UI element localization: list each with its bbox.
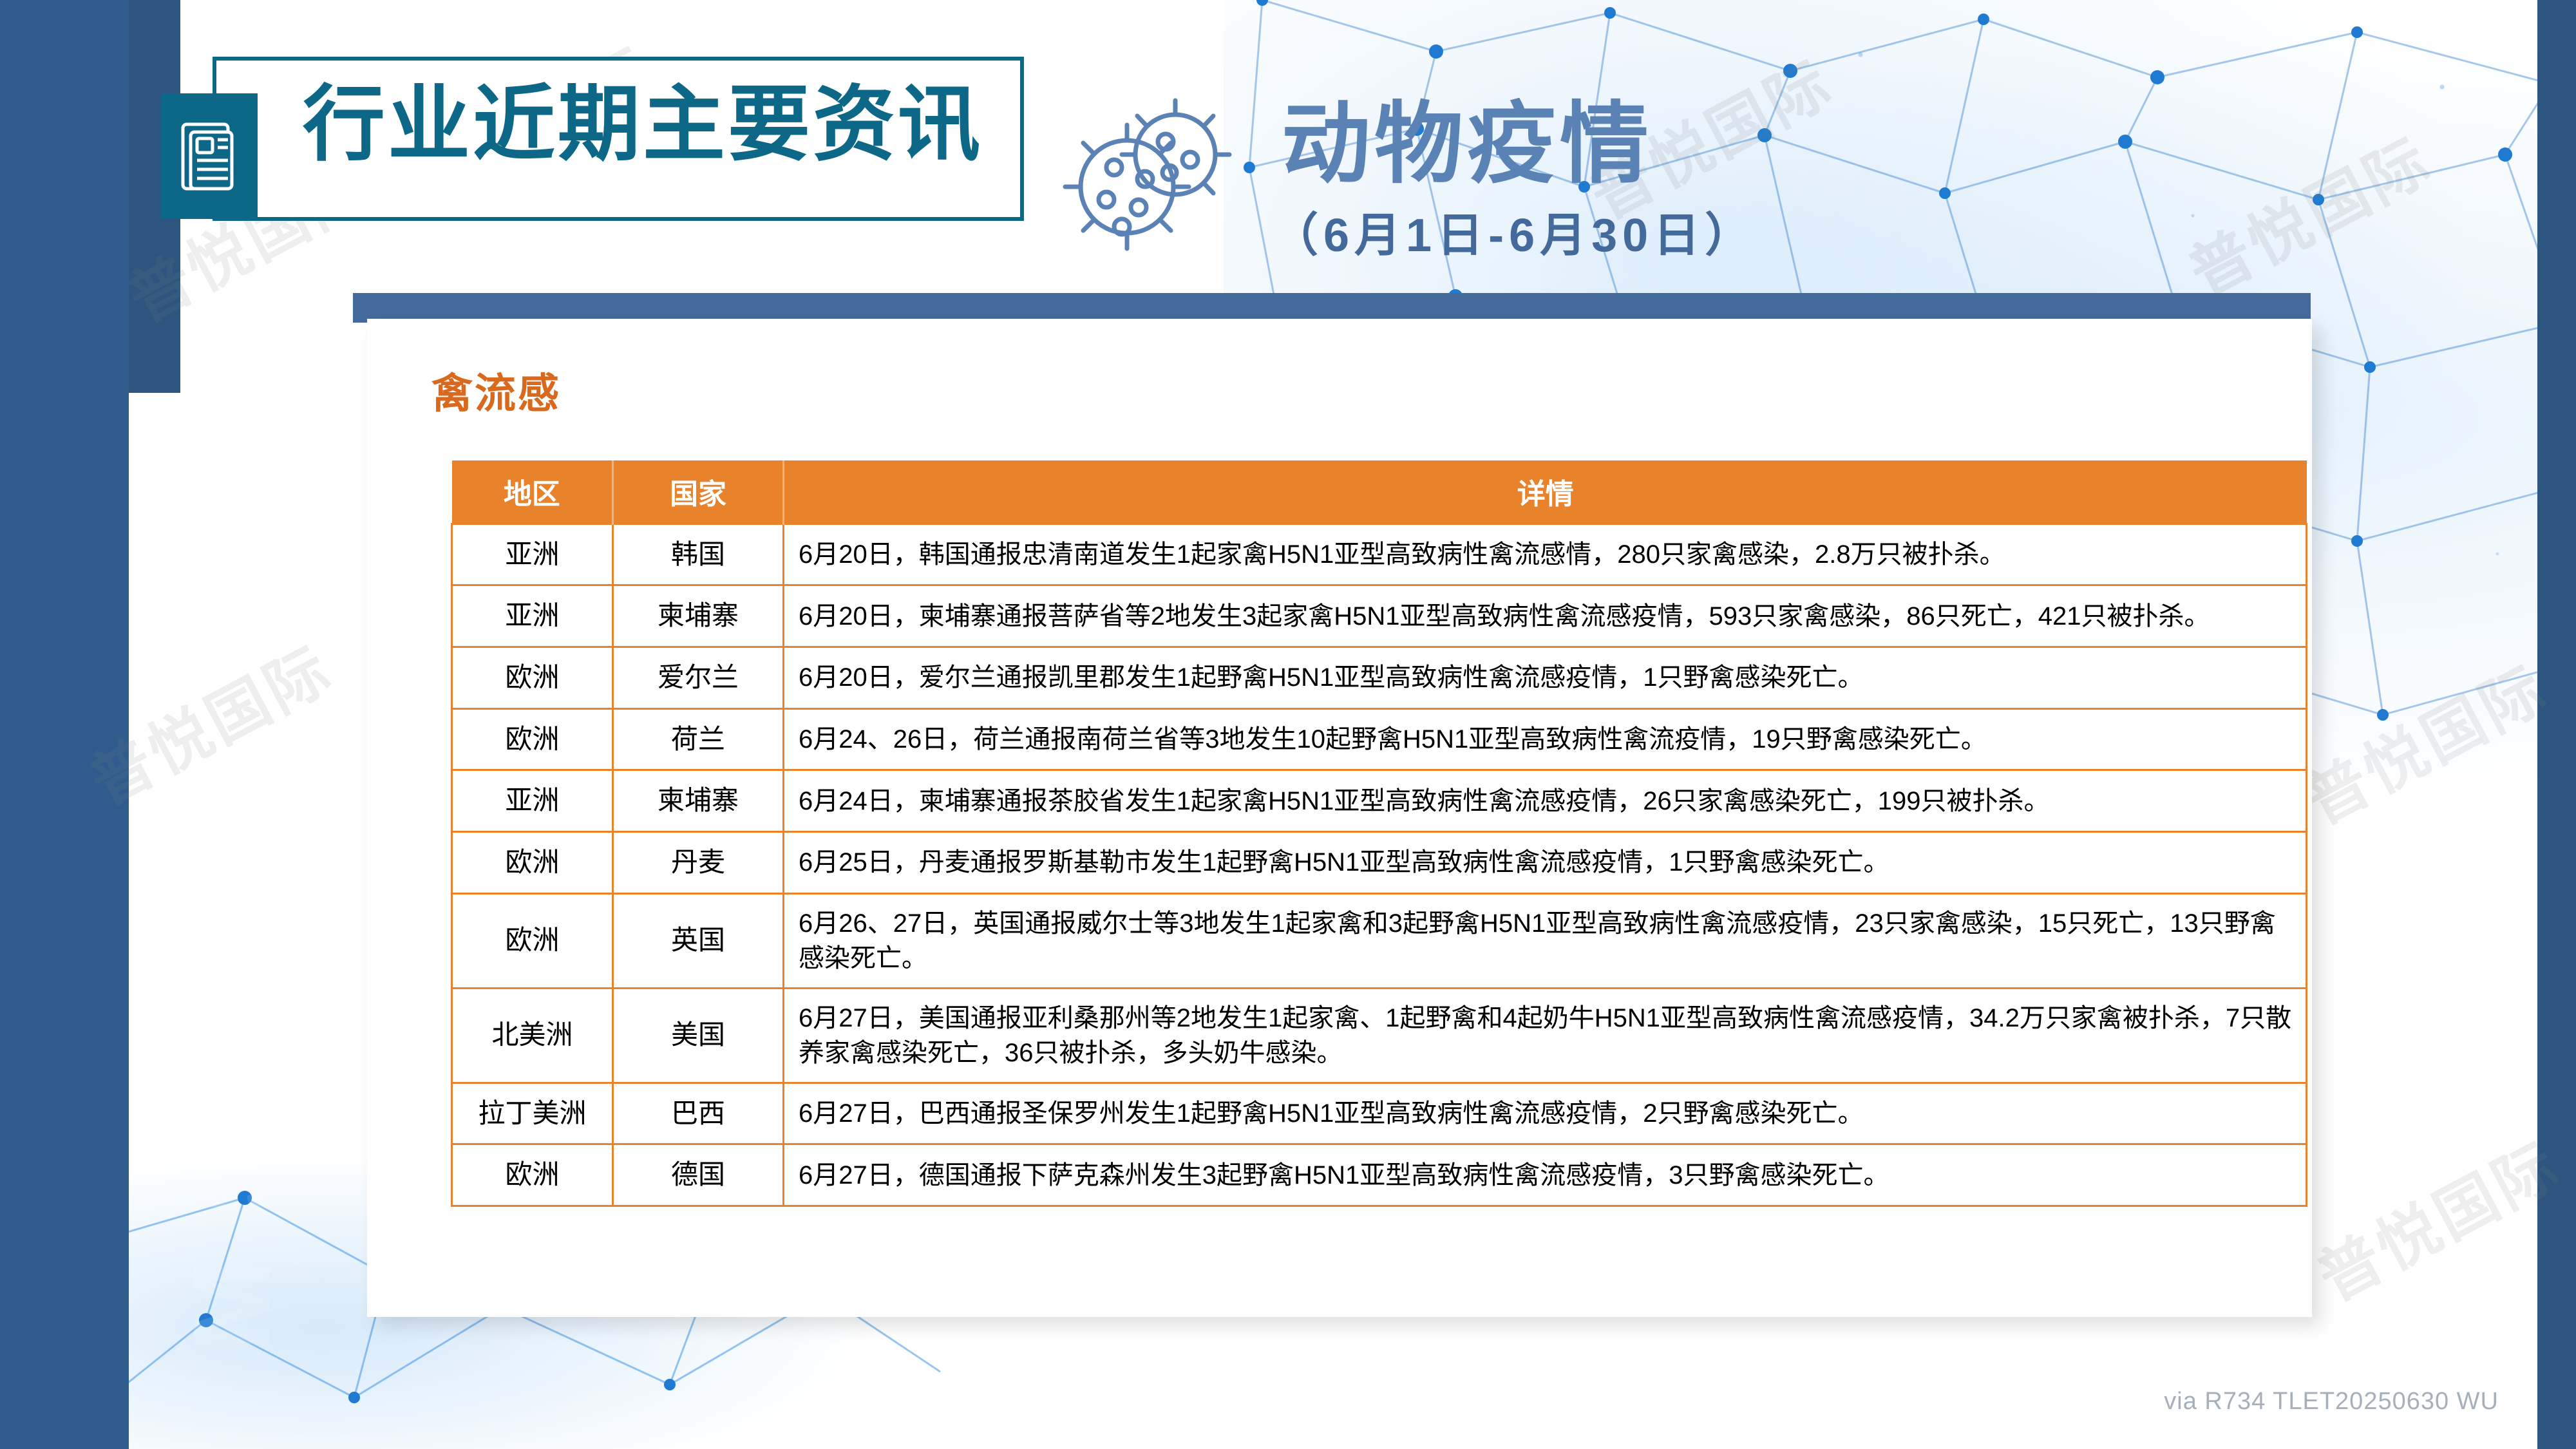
cell-region: 亚洲 [452, 585, 613, 647]
cell-country: 荷兰 [613, 708, 784, 770]
sidebar-vertical-text: M STATISTICS REPORT [169, 63, 295, 1351]
cell-detail: 6月20日，韩国通报忠清南道发生1起家禽H5N1亚型高致病性禽流感情，280只家… [784, 524, 2307, 585]
cell-detail: 6月20日，爱尔兰通报凯里郡发生1起野禽H5N1亚型高致病性禽流感疫情，1只野禽… [784, 647, 2307, 708]
column-header-region: 地区 [452, 460, 613, 524]
page-title: 行业近期主要资讯 [303, 84, 983, 166]
cell-region: 欧洲 [452, 831, 613, 893]
cell-country: 柬埔寨 [613, 585, 784, 647]
cell-country: 韩国 [613, 524, 784, 585]
watermark: 普悦国际 [2300, 1115, 2573, 1318]
cell-region: 欧洲 [452, 647, 613, 708]
outbreak-table-wrapper: 地区 国家 详情 亚洲韩国6月20日，韩国通报忠清南道发生1起家禽H5N1亚型高… [451, 460, 2306, 1207]
cell-country: 美国 [613, 988, 784, 1083]
cell-region: 拉丁美洲 [452, 1083, 613, 1144]
cell-detail: 6月24、26日，荷兰通报南荷兰省等3地发生10起野禽H5N1亚型高致病性禽流疫… [784, 708, 2307, 770]
table-row: 欧洲荷兰6月24、26日，荷兰通报南荷兰省等3地发生10起野禽H5N1亚型高致病… [452, 708, 2307, 770]
cell-region: 北美洲 [452, 988, 613, 1083]
cell-detail: 6月24日，柬埔寨通报茶胶省发生1起家禽H5N1亚型高致病性禽流感疫情，26只家… [784, 770, 2307, 832]
table-row: 亚洲柬埔寨6月20日，柬埔寨通报菩萨省等2地发生3起家禽H5N1亚型高致病性禽流… [452, 585, 2307, 647]
cell-country: 丹麦 [613, 831, 784, 893]
cell-country: 英国 [613, 893, 784, 988]
table-row: 欧洲德国6月27日，德国通报下萨克森州发生3起野禽H5N1亚型高致病性禽流感疫情… [452, 1144, 2307, 1206]
cell-detail: 6月27日，巴西通报圣保罗州发生1起野禽H5N1亚型高致病性禽流感疫情，2只野禽… [784, 1083, 2307, 1144]
table-header-row: 地区 国家 详情 [452, 460, 2307, 524]
cell-country: 爱尔兰 [613, 647, 784, 708]
table-row: 亚洲韩国6月20日，韩国通报忠清南道发生1起家禽H5N1亚型高致病性禽流感情，2… [452, 524, 2307, 585]
cell-detail: 6月27日，德国通报下萨克森州发生3起野禽H5N1亚型高致病性禽流感疫情，3只野… [784, 1144, 2307, 1206]
outbreak-table: 地区 国家 详情 亚洲韩国6月20日，韩国通报忠清南道发生1起家禽H5N1亚型高… [451, 460, 2307, 1207]
source-footer: via R734 TLET20250630 WU [2164, 1388, 2499, 1416]
table-row: 欧洲英国6月26、27日，英国通报威尔士等3地发生1起家禽和3起野禽H5N1亚型… [452, 893, 2307, 988]
column-header-detail: 详情 [784, 460, 2307, 524]
virus-icon [1063, 90, 1249, 251]
cell-detail: 6月27日，美国通报亚利桑那州等2地发生1起家禽、1起野禽和4起奶牛H5N1亚型… [784, 988, 2307, 1083]
cell-country: 巴西 [613, 1083, 784, 1144]
date-range-label: （6月1日-6月30日） [1272, 213, 1756, 259]
table-body: 亚洲韩国6月20日，韩国通报忠清南道发生1起家禽H5N1亚型高致病性禽流感情，2… [452, 524, 2307, 1206]
cell-detail: 6月26、27日，英国通报威尔士等3地发生1起家禽和3起野禽H5N1亚型高致病性… [784, 893, 2307, 988]
table-row: 拉丁美洲巴西6月27日，巴西通报圣保罗州发生1起野禽H5N1亚型高致病性禽流感疫… [452, 1083, 2307, 1144]
table-row: 亚洲柬埔寨6月24日，柬埔寨通报茶胶省发生1起家禽H5N1亚型高致病性禽流感疫情… [452, 770, 2307, 832]
cell-region: 欧洲 [452, 708, 613, 770]
table-row: 欧洲爱尔兰6月20日，爱尔兰通报凯里郡发生1起野禽H5N1亚型高致病性禽流感疫情… [452, 647, 2307, 708]
card-section-title: 禽流感 [431, 361, 561, 420]
cell-detail: 6月20日，柬埔寨通报菩萨省等2地发生3起家禽H5N1亚型高致病性禽流感疫情，5… [784, 585, 2307, 647]
table-row: 北美洲美国6月27日，美国通报亚利桑那州等2地发生1起家禽、1起野禽和4起奶牛H… [452, 988, 2307, 1083]
column-header-country: 国家 [613, 460, 784, 524]
cell-region: 欧洲 [452, 893, 613, 988]
newspaper-icon [161, 93, 258, 219]
cell-region: 欧洲 [452, 1144, 613, 1206]
slide-root: M STATISTICS REPORT 普悦国际 普悦国际 普悦国际 普悦国际 … [0, 0, 2576, 1449]
table-row: 欧洲丹麦6月25日，丹麦通报罗斯基勒市发生1起野禽H5N1亚型高致病性禽流感疫情… [452, 831, 2307, 893]
cell-region: 亚洲 [452, 770, 613, 832]
cell-country: 柬埔寨 [613, 770, 784, 832]
sidebar-dark-panel: M STATISTICS REPORT [0, 0, 129, 1449]
cell-detail: 6月25日，丹麦通报罗斯基勒市发生1起野禽H5N1亚型高致病性禽流感疫情，1只野… [784, 831, 2307, 893]
watermark: 普悦国际 [2287, 639, 2561, 841]
cell-region: 亚洲 [452, 524, 613, 585]
cell-country: 德国 [613, 1144, 784, 1206]
right-edge-bar [2537, 0, 2576, 1449]
watermark: 普悦国际 [2171, 111, 2445, 313]
section-subtitle: 动物疫情 [1282, 100, 1653, 189]
